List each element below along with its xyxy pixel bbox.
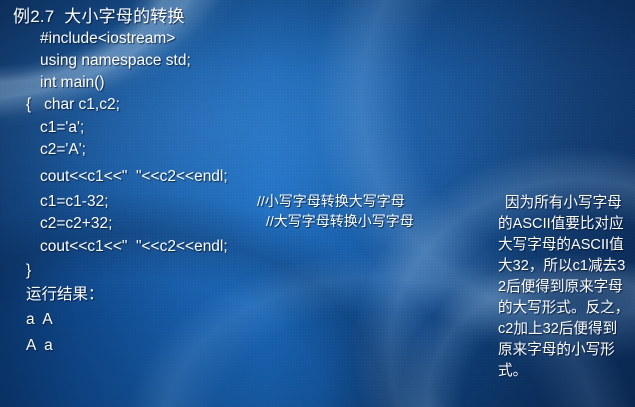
code-line: int main() xyxy=(40,75,105,91)
output-line: A a xyxy=(26,338,53,354)
code-comment-uppercase: //小写字母转换大写字母 xyxy=(257,194,405,208)
code-line: using namespace std; xyxy=(40,53,191,69)
code-line: } xyxy=(26,263,31,279)
code-line: { char c1,c2; xyxy=(26,97,120,113)
code-line: #include<iostream> xyxy=(40,31,175,47)
slide-title: 例2.7 大小字母的转换 xyxy=(13,8,185,25)
code-line: c1=c1-32; xyxy=(40,194,109,210)
output-heading: 运行结果： xyxy=(26,287,104,303)
code-line: c2=c2+32; xyxy=(40,216,112,232)
code-line: c2='A'; xyxy=(40,142,86,158)
code-line: c1='a'; xyxy=(40,120,84,136)
code-line: cout<<c1<<" "<<c2<<endl; xyxy=(40,239,228,255)
presentation-slide: 例2.7 大小字母的转换 #include<iostream>using nam… xyxy=(0,0,635,407)
explanation-text: 因为所有小写字母的ASCII值要比对应大写字母的ASCII值大32，所以c1减去… xyxy=(498,193,630,382)
code-line: cout<<c1<<" "<<c2<<endl; xyxy=(40,169,228,185)
output-line: a A xyxy=(26,312,53,328)
code-comment-lowercase: //大写字母转换小写字母 xyxy=(266,214,414,228)
